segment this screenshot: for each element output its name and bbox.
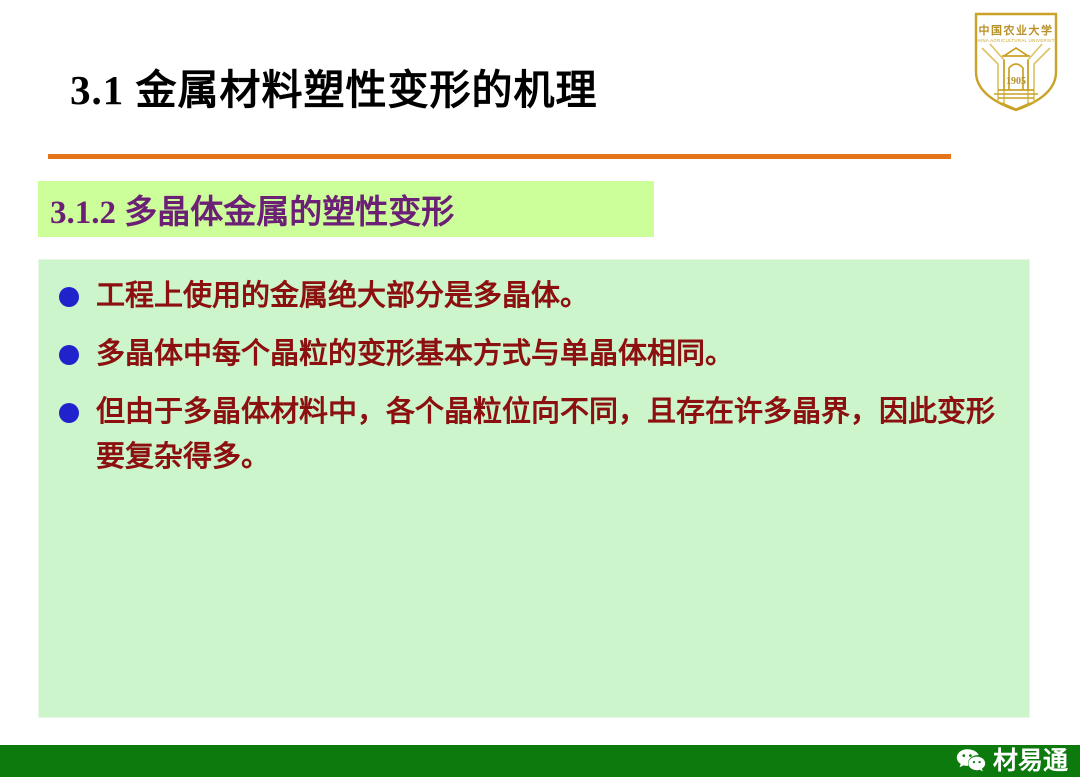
bullet-dot-icon [59,287,79,307]
list-item: 多晶体中每个晶粒的变形基本方式与单晶体相同。 [59,332,1015,378]
footer-brand-label: 材易通 [993,749,1068,774]
university-logo: 中国农业大学 CHINA AGRICULTURAL UNIVERSITY 190… [968,8,1064,114]
footer-brand: 材易通 [956,745,1068,777]
list-item-text: 多晶体中每个晶粒的变形基本方式与单晶体相同。 [96,332,1015,378]
list-item: 工程上使用的金属绝大部分是多晶体。 [59,274,1015,320]
bullet-list: 工程上使用的金属绝大部分是多晶体。 多晶体中每个晶粒的变形基本方式与单晶体相同。… [59,274,1015,493]
svg-text:中国农业大学: 中国农业大学 [979,23,1054,37]
subheading-label: 3.1.2 多晶体金属的塑性变形 [50,185,454,233]
bullet-dot-icon [59,403,79,423]
title-divider [48,154,951,159]
list-item-text: 但由于多晶体材料中，各个晶粒位向不同，且存在许多晶界，因此变形要复杂得多。 [96,390,1015,482]
university-crest-icon: 中国农业大学 CHINA AGRICULTURAL UNIVERSITY 190… [968,8,1064,114]
content-panel: 工程上使用的金属绝大部分是多晶体。 多晶体中每个晶粒的变形基本方式与单晶体相同。… [38,259,1030,718]
list-item-text: 工程上使用的金属绝大部分是多晶体。 [96,274,1015,320]
list-item: 但由于多晶体材料中，各个晶粒位向不同，且存在许多晶界，因此变形要复杂得多。 [59,390,1015,482]
footer-bar: 材易通 [0,745,1080,777]
wechat-icon [956,748,986,774]
svg-text:CHINA AGRICULTURAL UNIVERSITY: CHINA AGRICULTURAL UNIVERSITY [974,38,1058,43]
subheading-band: 3.1.2 多晶体金属的塑性变形 [38,181,654,237]
svg-text:1905: 1905 [1006,76,1026,87]
page-title: 3.1 金属材料塑性变形的机理 [70,56,598,116]
bullet-dot-icon [59,345,79,365]
